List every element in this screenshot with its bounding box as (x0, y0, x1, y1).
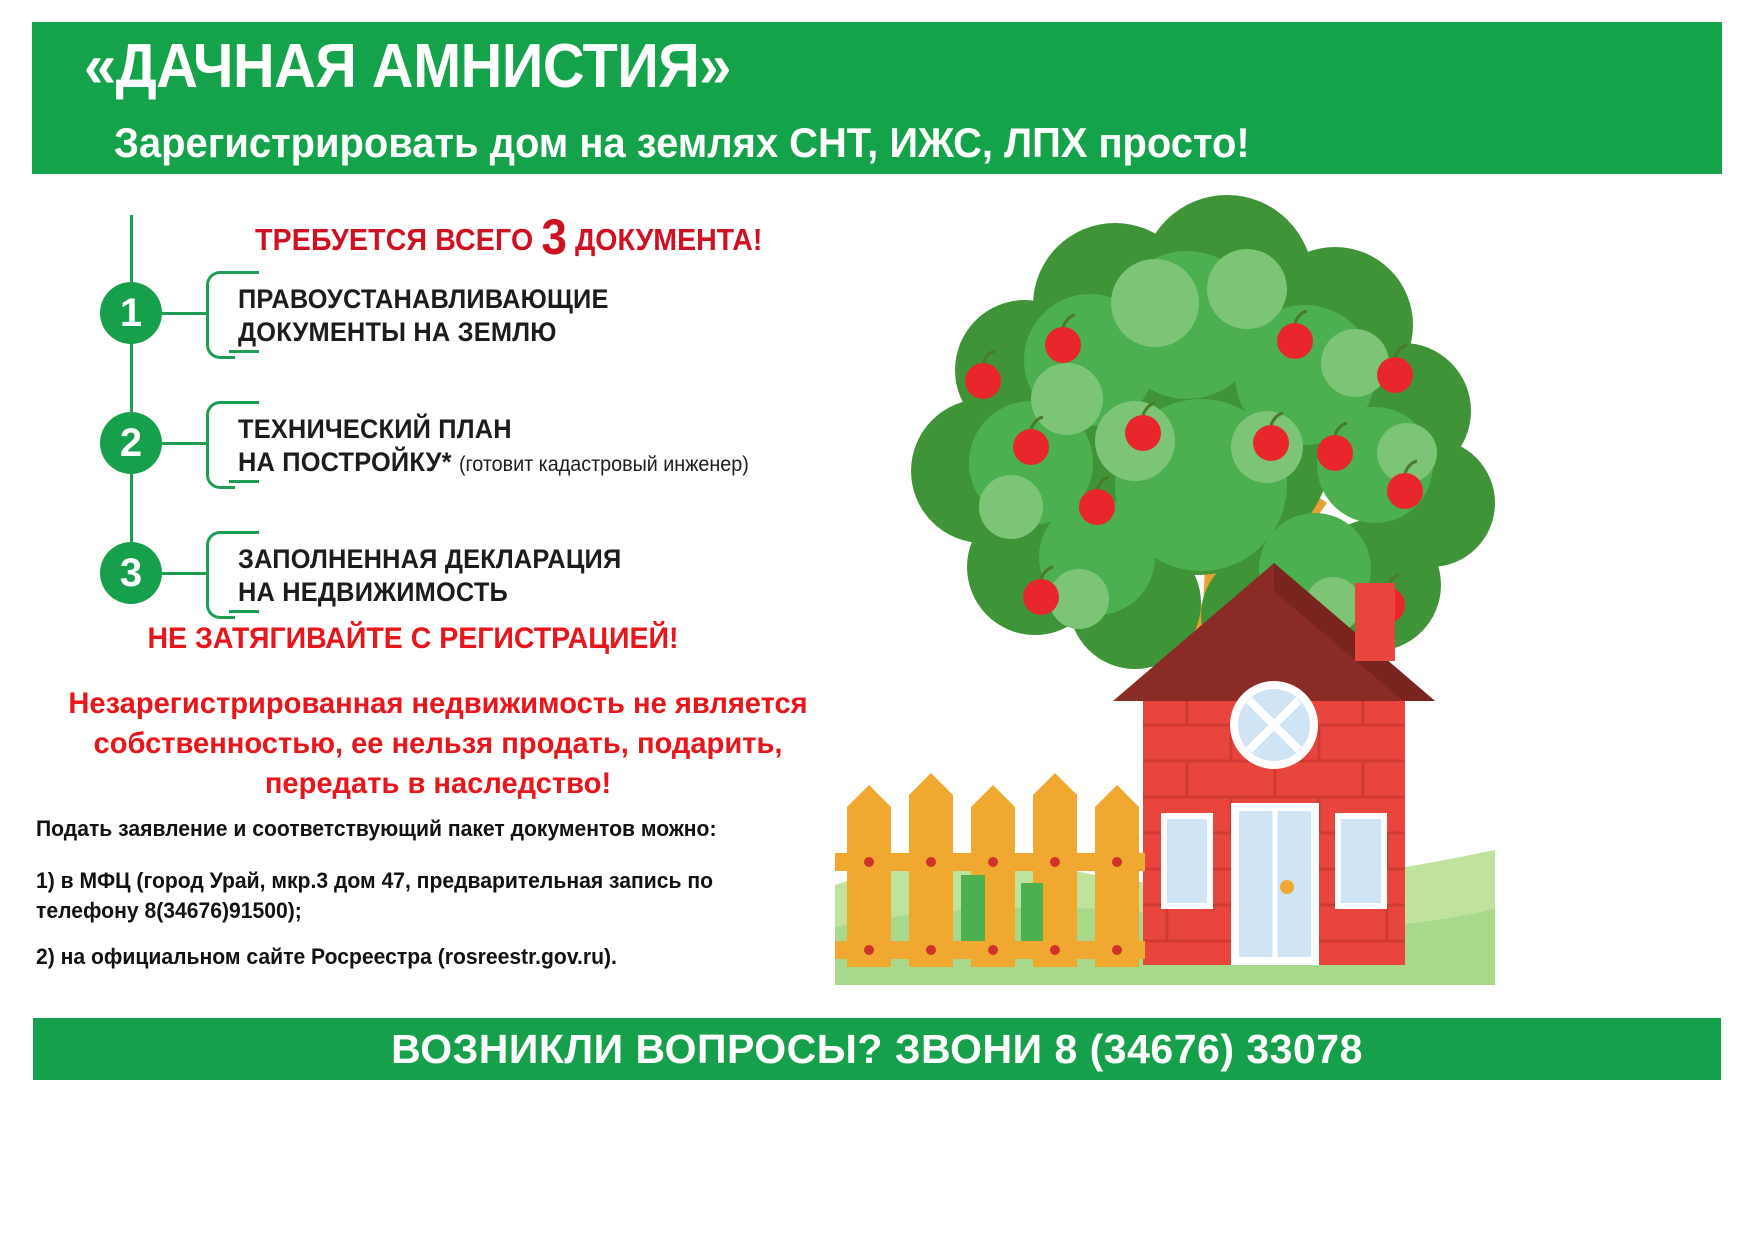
house-window-left (1161, 813, 1213, 909)
step-label-2-line1: ТЕХНИЧЕСКИЙ ПЛАН (238, 413, 749, 446)
poster-root: «ДАЧНАЯ АМНИСТИЯ» Зарегистрировать дом н… (0, 0, 1755, 1241)
step-bracket-1 (206, 271, 235, 359)
step-stem-3 (162, 572, 208, 575)
requirement-headline: ТРЕБУЕТСЯ ВСЕГО 3 ДОКУМЕНТА! (255, 208, 762, 258)
step-stem-1 (162, 312, 208, 315)
house-door-icon (1231, 803, 1319, 965)
attic-window-icon (1230, 681, 1318, 769)
page-subtitle: Зарегистрировать дом на землях СНТ, ИЖС,… (114, 122, 1250, 164)
step-number-badge-1: 1 (100, 282, 162, 344)
step-bracket-bottom-tip-2 (229, 480, 259, 483)
warning-body: Незарегистрированная недвижимость не явл… (38, 684, 838, 804)
step-bracket-top-tip-1 (229, 271, 259, 274)
step-label-1-line2: ДОКУМЕНТЫ НА ЗЕМЛЮ (238, 316, 609, 349)
step-bracket-top-tip-2 (229, 401, 259, 404)
footer-phone-text: ВОЗНИКЛИ ВОПРОСЫ? ЗВОНИ 8 (34676) 33078 (391, 1026, 1363, 1073)
header-banner: «ДАЧНАЯ АМНИСТИЯ» Зарегистрировать дом н… (32, 22, 1722, 174)
fence-icon (835, 773, 1145, 967)
step-bracket-2 (206, 401, 235, 489)
requirement-suffix: ДОКУМЕНТА! (567, 222, 762, 257)
connector-trunk-line (130, 215, 133, 575)
warning-body-line2: собственностью, ее нельзя продать, подар… (50, 724, 826, 764)
step-bracket-top-tip-3 (229, 531, 259, 534)
illustration-svg (835, 185, 1495, 985)
step-number-badge-3: 3 (100, 542, 162, 604)
step-label-1: ПРАВОУСТАНАВЛИВАЮЩИЕ ДОКУМЕНТЫ НА ЗЕМЛЮ (238, 283, 609, 350)
contacts-option-website: 2) на официальном сайте Росреестра (rosr… (36, 942, 617, 972)
footer-banner: ВОЗНИКЛИ ВОПРОСЫ? ЗВОНИ 8 (34676) 33078 (33, 1018, 1721, 1080)
step-label-1-line1: ПРАВОУСТАНАВЛИВАЮЩИЕ (238, 283, 609, 316)
requirement-count: 3 (541, 209, 567, 265)
step-label-2-line2: НА ПОСТРОЙКУ* (238, 447, 452, 477)
requirement-prefix: ТРЕБУЕТСЯ ВСЕГО (255, 222, 541, 257)
step-label-2: ТЕХНИЧЕСКИЙ ПЛАН НА ПОСТРОЙКУ* (готовит … (238, 413, 749, 480)
step-bracket-3 (206, 531, 235, 619)
step-bracket-bottom-tip-1 (229, 350, 259, 353)
step-number-badge-2: 2 (100, 412, 162, 474)
tree-foliage-icon (911, 195, 1495, 679)
contacts-option-mfc: 1) в МФЦ (город Урай, мкр.3 дом 47, пред… (36, 866, 794, 925)
warning-headline: НЕ ЗАТЯГИВАЙТЕ С РЕГИСТРАЦИЕЙ! (128, 622, 698, 656)
chimney-icon (1355, 583, 1395, 661)
step-label-3-line2: НА НЕДВИЖИМОСТЬ (238, 576, 621, 609)
contacts-intro: Подать заявление и соответствующий пакет… (36, 814, 717, 844)
warning-body-line1: Незарегистрированная недвижимость не явл… (50, 684, 826, 724)
page-title: «ДАЧНАЯ АМНИСТИЯ» (84, 36, 731, 98)
step-stem-2 (162, 442, 208, 445)
apple-tree-and-house-illustration (835, 185, 1495, 985)
step-label-3-line1: ЗАПОЛНЕННАЯ ДЕКЛАРАЦИЯ (238, 543, 621, 576)
warning-body-line3: передать в наследство! (50, 764, 826, 804)
step-note-2: (готовит кадастровый инженер) (459, 453, 749, 476)
step-bracket-bottom-tip-3 (229, 610, 259, 613)
step-label-2-line2-wrap: НА ПОСТРОЙКУ* (готовит кадастровый инжен… (238, 446, 749, 479)
step-label-3: ЗАПОЛНЕННАЯ ДЕКЛАРАЦИЯ НА НЕДВИЖИМОСТЬ (238, 543, 621, 610)
house-window-right (1335, 813, 1387, 909)
